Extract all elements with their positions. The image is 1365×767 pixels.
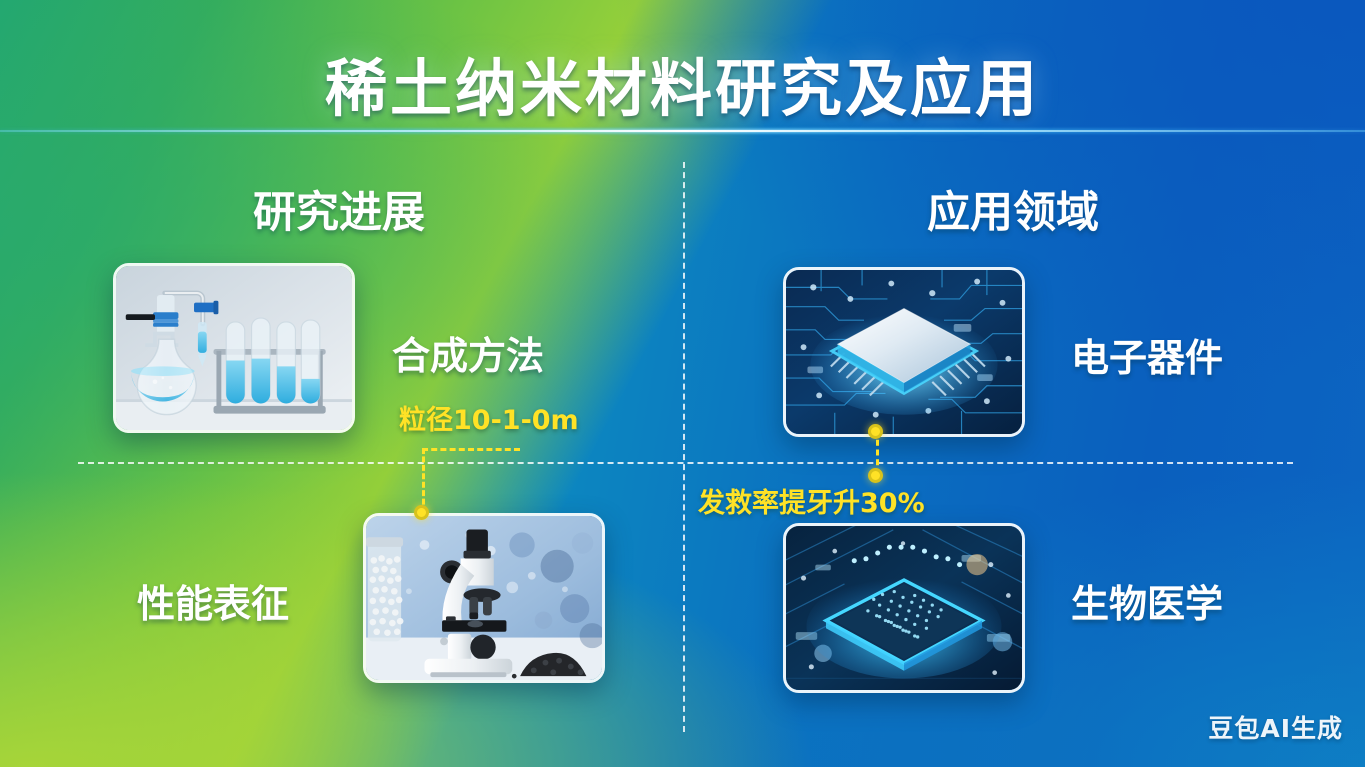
image-card-electronic-devices[interactable]: [783, 267, 1025, 437]
item-label-synthesis: 合成方法: [392, 325, 544, 380]
connector-dot-characterization: [414, 505, 429, 520]
vertical-divider: [683, 162, 685, 732]
title-glow-core: [0, 130, 1365, 132]
image-card-characterization[interactable]: [363, 513, 605, 683]
watermark: 豆包AI生成: [1208, 709, 1343, 745]
horizontal-divider: [78, 462, 1293, 464]
item-label-characterization: 性能表征: [137, 573, 289, 628]
section-heading-research: 研究进展: [253, 178, 425, 240]
microscope-illustration: [366, 516, 602, 680]
connector-line-particle-size-horizontal: [422, 448, 520, 451]
image-card-synthesis[interactable]: [113, 263, 355, 433]
item-label-biomedicine: 生物医学: [1071, 573, 1223, 628]
annotation-efficiency: 发救率提牙升30%: [698, 481, 925, 520]
item-label-electronics: 电子器件: [1071, 327, 1223, 382]
image-card-biomedicine[interactable]: [783, 523, 1025, 693]
page-title: 稀土纳米材料研究及应用: [0, 38, 1365, 128]
connector-line-particle-size-vertical: [422, 448, 425, 513]
section-heading-application: 应用领域: [927, 178, 1099, 240]
annotation-particle-size: 粒径10-1-0m: [399, 398, 579, 437]
chemistry-lab-illustration: [116, 266, 352, 430]
connector-dot-electronics: [868, 424, 883, 439]
chip-light-pins-illustration: [786, 526, 1022, 690]
microchip-circuit-illustration: [786, 270, 1022, 434]
slide-canvas: 稀土纳米材料研究及应用 研究进展 应用领域: [0, 0, 1365, 767]
